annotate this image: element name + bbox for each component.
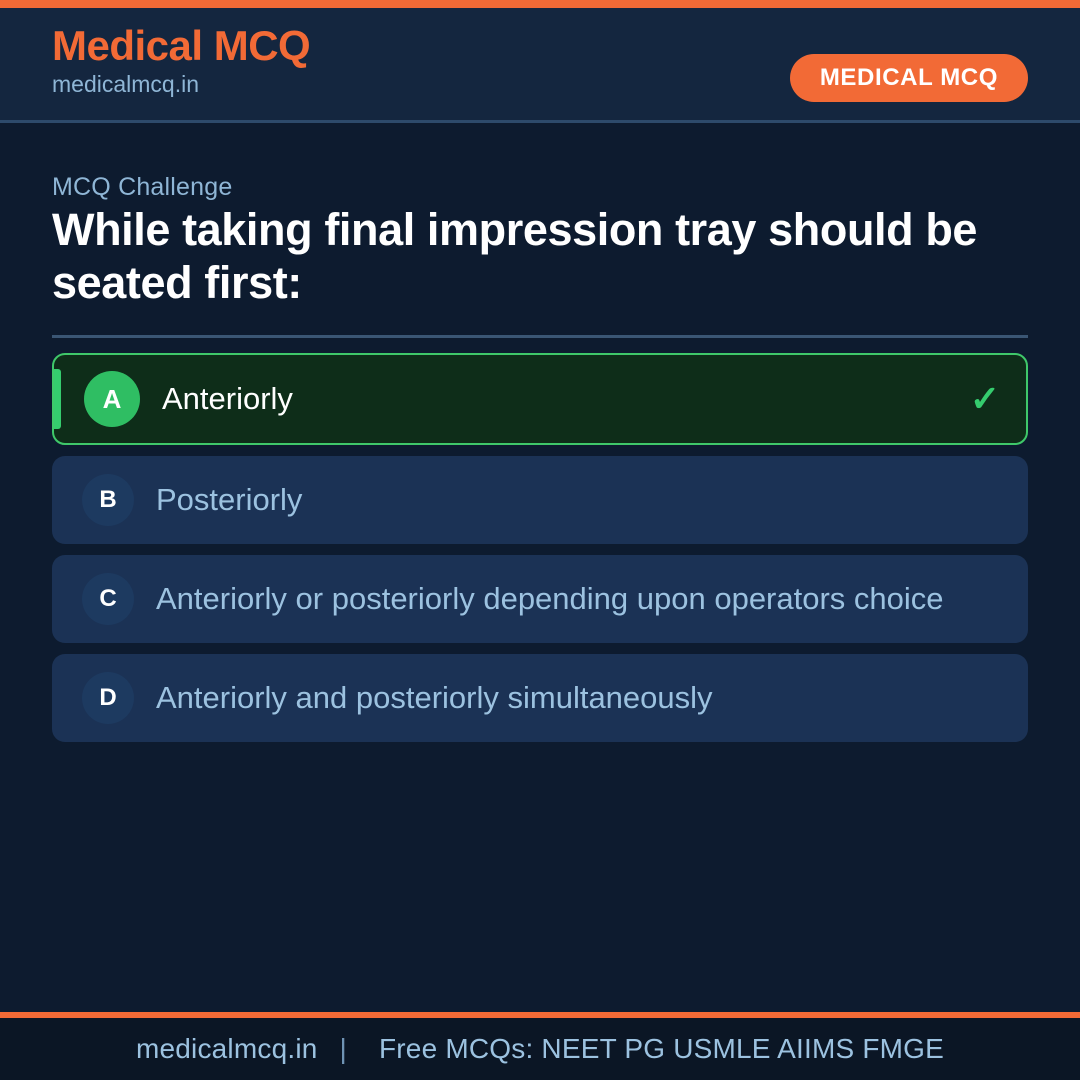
options-list: A Anteriorly ✓ B Posteriorly C Anteriorl… [52,353,1028,753]
section-eyebrow-label: MCQ Challenge [52,173,232,202]
option-badge-a: A [84,371,140,427]
option-row-d[interactable]: D Anteriorly and posteriorly simultaneou… [52,654,1028,742]
option-text-c: Anteriorly or posteriorly depending upon… [156,581,1002,618]
brand: Medical MCQ medicalmcq.in [52,24,310,97]
option-row-c[interactable]: C Anteriorly or posteriorly depending up… [52,555,1028,643]
page-footer: medicalmcq.in | Free MCQs: NEET PG USMLE… [0,1018,1080,1080]
footer-site-label: medicalmcq.in [136,1033,318,1064]
correct-accent-bar [54,369,61,429]
question-text: While taking final impression tray shoul… [52,204,1037,309]
footer-text: medicalmcq.in | Free MCQs: NEET PG USMLE… [136,1033,944,1065]
option-badge-c: C [82,573,134,625]
option-text-b: Posteriorly [156,482,1002,519]
option-row-a[interactable]: A Anteriorly ✓ [52,353,1028,445]
option-badge-b: B [82,474,134,526]
page-header: Medical MCQ medicalmcq.in MEDICAL MCQ [0,8,1080,120]
brand-subtitle: medicalmcq.in [52,72,310,97]
top-accent-bar [0,0,1080,8]
brand-title: Medical MCQ [52,24,310,68]
option-badge-d: D [82,672,134,724]
header-badge-pill: MEDICAL MCQ [790,54,1028,102]
option-text-a: Anteriorly [162,381,962,418]
option-text-d: Anteriorly and posteriorly simultaneousl… [156,680,1002,717]
option-row-b[interactable]: B Posteriorly [52,456,1028,544]
check-icon: ✓ [970,381,1000,417]
footer-separator: | [326,1033,361,1064]
question-divider [52,335,1028,338]
footer-tagline: Free MCQs: NEET PG USMLE AIIMS FMGE [369,1033,944,1064]
